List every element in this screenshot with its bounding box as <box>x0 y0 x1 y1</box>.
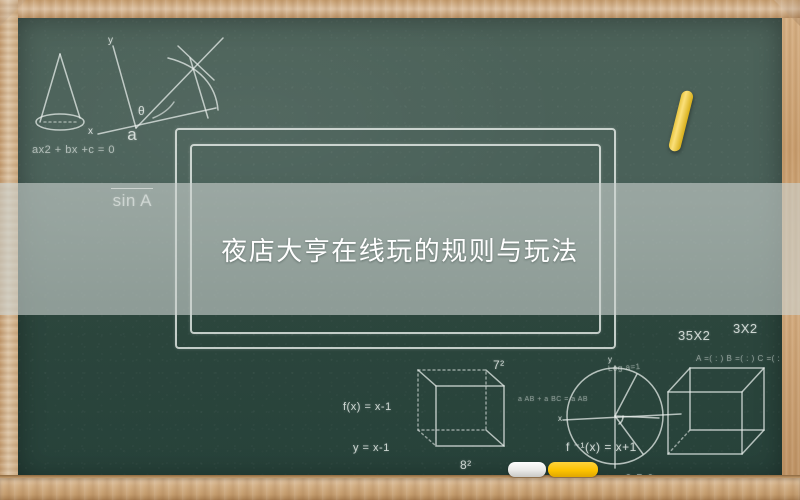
matrix-row: A =( : ) B =( : ) C =( : ) <box>696 354 782 364</box>
expression-35x2: 35X2 <box>678 328 710 344</box>
wood-ledge <box>0 478 800 500</box>
caption-band: 夜店大亨在线玩的规则与玩法 <box>0 183 800 315</box>
axis-label-y: y <box>108 35 114 48</box>
cone-diagram <box>36 54 84 130</box>
chalk-stick-yellow-floating <box>668 89 695 152</box>
wood-frame-top <box>0 0 800 18</box>
expression-3x2: 3X2 <box>733 321 758 337</box>
power-eight-squared: 8² <box>460 458 472 473</box>
circle-axis-label-x: x <box>558 414 563 424</box>
chalk-stick-white <box>508 462 546 477</box>
cube-wireframe-right <box>668 368 764 454</box>
circle-axis-label-y: y <box>608 355 613 365</box>
axis-label-x: x <box>88 126 94 139</box>
quadratic-equation: ax2 + bx +c = 0 <box>32 144 115 158</box>
small-equation: a AB + a BC = a AB <box>518 396 588 405</box>
page-title: 夜店大亨在线玩的规则与玩法 <box>221 231 579 268</box>
chalkboard-banner: a sin A ax2 + bx +c = 0 y x θ f(x) = x-1… <box>0 0 800 500</box>
angle-label-theta: θ <box>138 104 145 119</box>
chalk-stick-yellow <box>548 462 598 477</box>
long-division-block: 3 5 8 2 7 9 6 3 7 <box>625 442 654 478</box>
sine-rule-fraction-2: a sin A <box>410 445 460 478</box>
power-seven-squared: 7² <box>493 358 505 373</box>
function-line-2: y = x-1 <box>343 442 401 456</box>
cube-wireframe-left <box>418 370 504 446</box>
function-line-1: f(x) = x-1 <box>343 401 401 415</box>
function-equations-block: f(x) = x-1 y = x-1 x = y+1 <box>343 373 401 478</box>
